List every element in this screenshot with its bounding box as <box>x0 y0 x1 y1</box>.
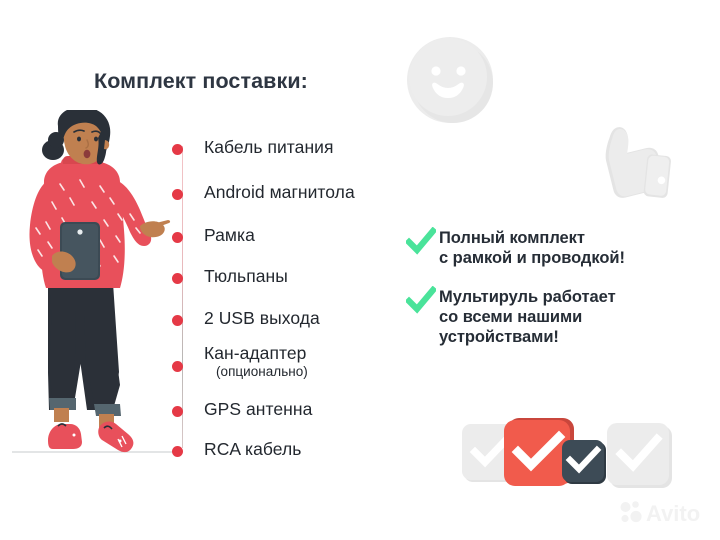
list-item: Android магнитола <box>172 183 355 201</box>
benefit-label: Мультируль работает со всеми нашими устр… <box>439 287 616 348</box>
woman-pointing-illustration <box>8 110 178 510</box>
poster-canvas: Комплект поставки: <box>0 0 720 540</box>
benefit-label: Полный комплект с рамкой и проводкой! <box>439 228 625 269</box>
list-item: Кабель питания <box>172 138 334 156</box>
smiley-face-icon <box>406 36 494 124</box>
kit-contents-list: Кабель питания Android магнитола Рамка Т… <box>172 128 412 458</box>
green-check-icon <box>406 286 436 316</box>
benefit-item: Полный комплект с рамкой и проводкой! <box>406 228 706 269</box>
list-item-label: Android магнитола <box>204 183 355 201</box>
thumbs-up-icon <box>578 116 678 216</box>
list-item-label: Кабель питания <box>204 138 334 156</box>
page-title: Комплект поставки: <box>94 69 308 94</box>
list-item-label: Тюльпаны <box>204 267 288 285</box>
list-item-label: 2 USB выхода <box>204 309 320 327</box>
list-item-label: GPS антенна <box>204 400 312 418</box>
bullet-dot-icon <box>172 406 183 417</box>
list-item: Кан-адаптер (опционально) <box>172 344 308 380</box>
checkbox-checkmark-group <box>460 412 690 502</box>
list-item: Рамка <box>172 226 255 244</box>
bullet-dot-icon <box>172 232 183 243</box>
avito-watermark-label: Avito <box>646 501 700 526</box>
list-item-label: RCA кабель <box>204 440 301 458</box>
benefit-item: Мультируль работает со всеми нашими устр… <box>406 287 706 348</box>
bullet-dot-icon <box>172 315 183 326</box>
list-item-sub-label: (опционально) <box>216 365 308 379</box>
benefits-list: Полный комплект с рамкой и проводкой! Му… <box>406 228 706 363</box>
green-check-icon <box>406 227 436 257</box>
avito-watermark: Avito <box>618 498 714 528</box>
list-item-main-label: Кан-адаптер <box>204 343 306 363</box>
list-item: Тюльпаны <box>172 267 288 285</box>
bullet-dot-icon <box>172 446 183 457</box>
bullet-dot-icon <box>172 189 183 200</box>
list-item-label: Кан-адаптер (опционально) <box>204 344 308 380</box>
bullet-dot-icon <box>172 361 183 372</box>
bullet-dot-icon <box>172 273 183 284</box>
list-item: GPS антенна <box>172 400 312 418</box>
bullet-dot-icon <box>172 144 183 155</box>
list-item: RCA кабель <box>172 440 301 458</box>
list-item: 2 USB выхода <box>172 309 320 327</box>
list-item-label: Рамка <box>204 226 255 244</box>
